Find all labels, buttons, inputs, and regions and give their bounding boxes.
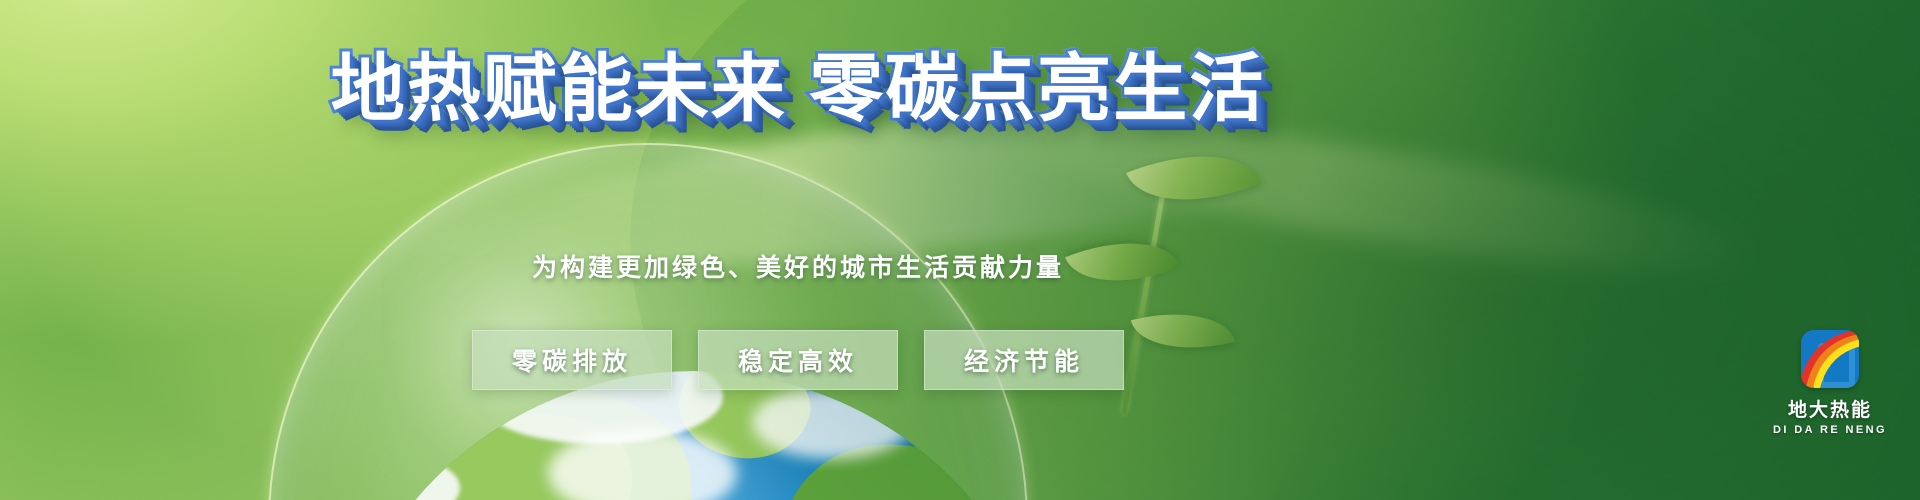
- logo-name-pinyin: DI DA RE NENG: [1773, 424, 1887, 436]
- geothermal-promo-banner: 地热赋能未来 零碳点亮生活 为构建更加绿色、美好的城市生活贡献力量 零碳排放 稳…: [0, 0, 1920, 500]
- banner-headline: 地热赋能未来 零碳点亮生活: [0, 52, 1596, 126]
- feature-pill-zero-carbon[interactable]: 零碳排放: [472, 330, 672, 390]
- banner-subtitle: 为构建更加绿色、美好的城市生活贡献力量: [0, 248, 1596, 284]
- feature-pill-stable-efficient[interactable]: 稳定高效: [698, 330, 898, 390]
- feature-pill-group: 零碳排放 稳定高效 经济节能: [0, 330, 1596, 390]
- company-logo[interactable]: 地大热能 DI DA RE NENG: [1760, 330, 1900, 480]
- banner-headline-text: 地热赋能未来 零碳点亮生活: [331, 47, 1266, 130]
- banner-content: 地热赋能未来 零碳点亮生活 为构建更加绿色、美好的城市生活贡献力量 零碳排放 稳…: [0, 0, 1920, 500]
- logo-name-cn: 地大热能: [1788, 395, 1872, 422]
- feature-pill-economical-energy-saving[interactable]: 经济节能: [924, 330, 1124, 390]
- didareneng-rainbow-square-logo-icon: [1801, 330, 1859, 388]
- logo-rainbow-arc-icon: [1801, 332, 1859, 388]
